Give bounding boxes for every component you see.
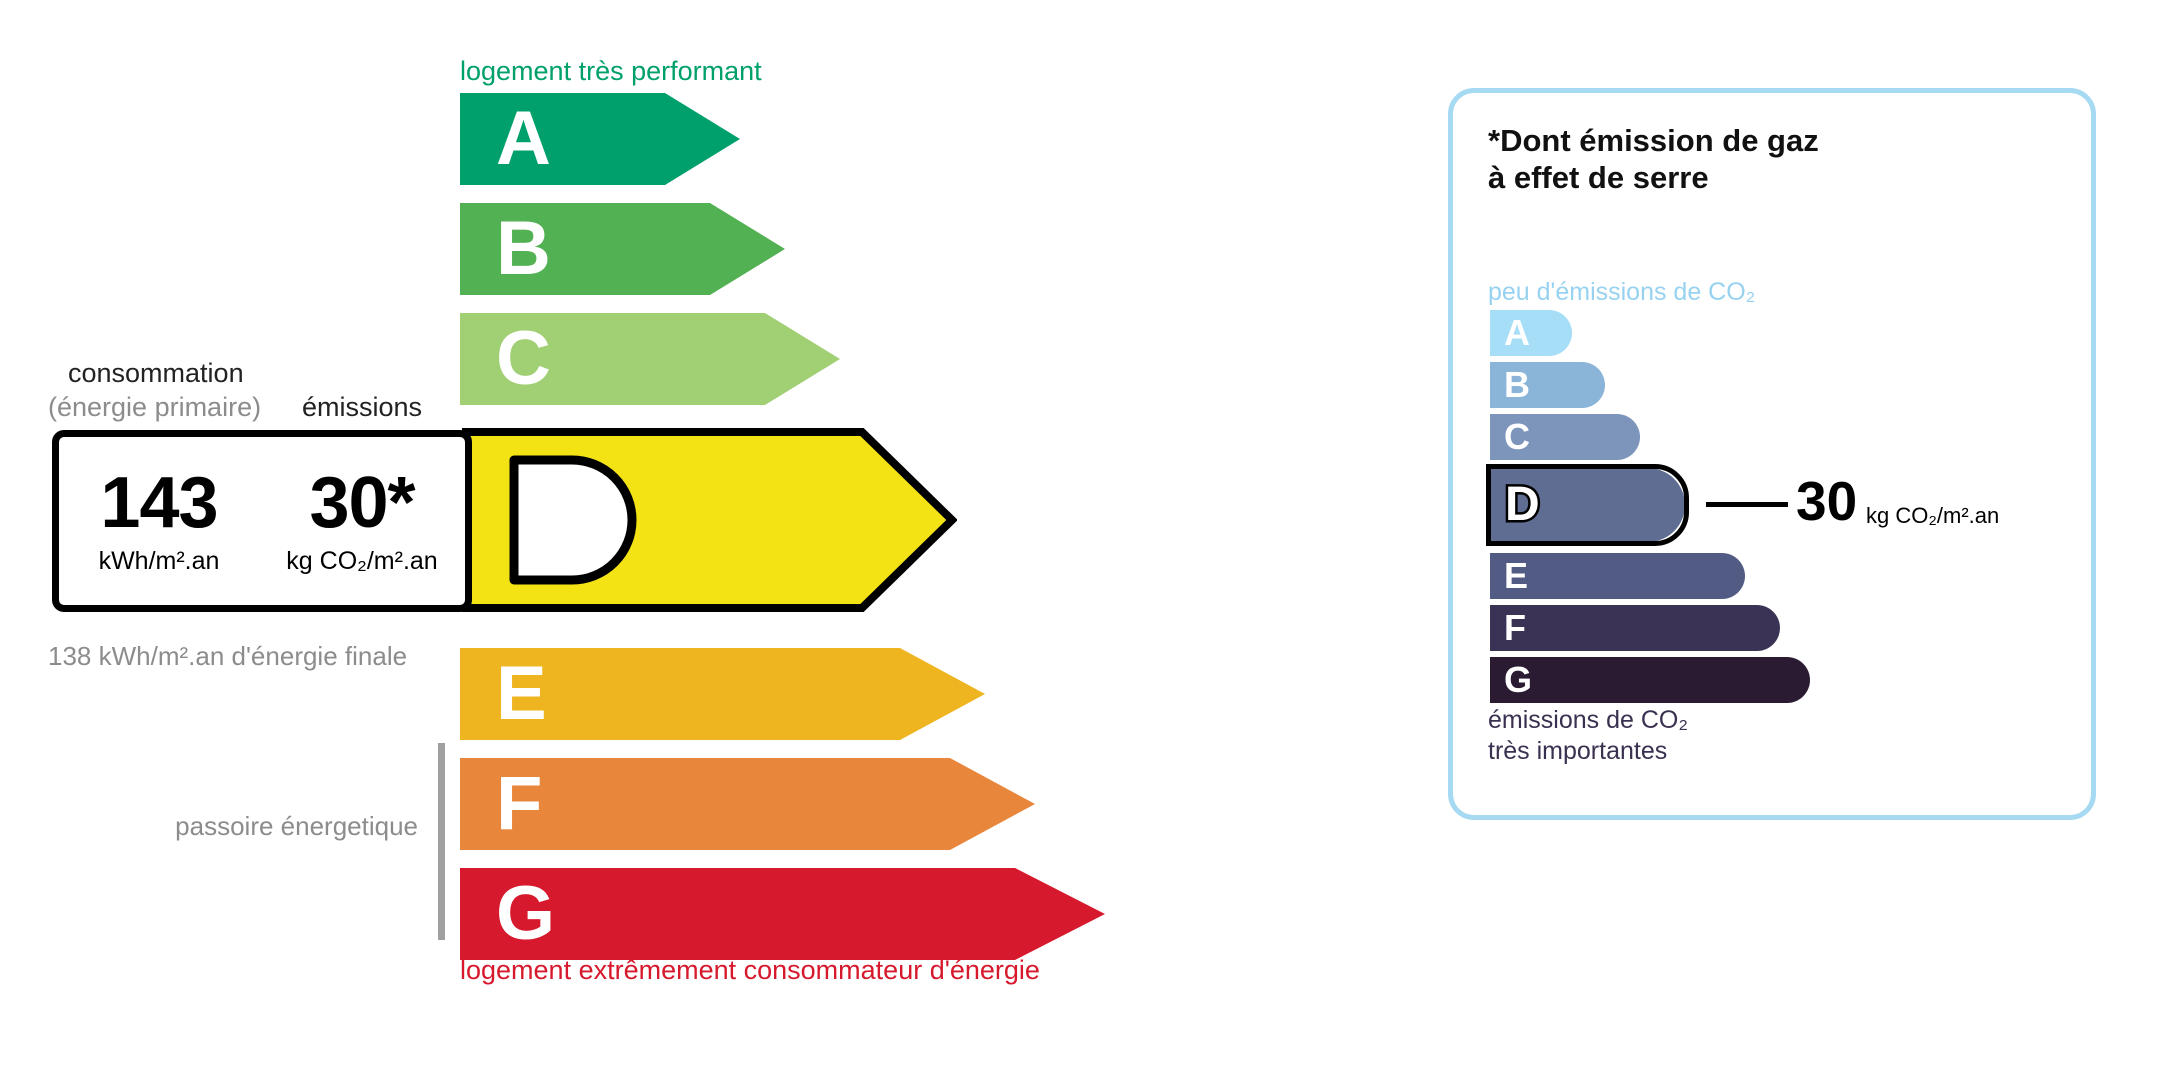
final-energy-label: 138 kWh/m².an d'énergie finale [48,640,407,673]
co2-bar-f-label: F [1504,610,1526,646]
co2-bar-e[interactable]: E [1490,553,1745,599]
energy-band-b[interactable]: B [460,203,785,295]
energy-band-c[interactable]: C [460,313,840,405]
energy-band-f[interactable]: F [460,758,1035,850]
passoire-bracket [438,743,445,940]
primary-energy-cell: 143 kWh/m².an [59,437,259,605]
co2-bar-b[interactable]: B [1490,362,1605,408]
energy-band-b-label: B [496,211,551,287]
energy-band-g-label: G [496,876,555,952]
band-g-shape [460,868,1105,960]
primary-energy-unit: kWh/m².an [99,547,220,576]
emissions-cell: 30* kg CO₂/m².an [259,437,465,605]
emissions-label: émissions [302,392,422,423]
scale-bottom-caption: logement extrêmement consommateur d'éner… [460,955,1040,986]
dpe-diagram: logement très performant A B C E [0,0,2169,1079]
passoire-label: passoire énergetique [160,810,418,843]
co2-unit: kg CO₂/m².an [1866,505,1999,527]
band-d-shape [462,428,957,612]
energy-band-e-label: E [496,656,547,732]
co2-bar-b-label: B [1504,367,1530,403]
co2-bar-d[interactable]: D [1486,464,1689,546]
co2-top-caption: peu d'émissions de CO₂ [1488,278,1755,307]
primary-energy-value: 143 [100,467,217,539]
co2-bar-g[interactable]: G [1490,657,1810,703]
co2-bar-c[interactable]: C [1490,414,1640,460]
energy-band-c-label: C [496,321,551,397]
consommation-label: consommation [68,358,244,389]
scale-top-caption: logement très performant [460,56,762,87]
co2-bar-a-label: A [1504,315,1530,351]
co2-bar-a[interactable]: A [1490,310,1572,356]
co2-bar-e-label: E [1504,558,1528,594]
co2-value: 30 [1796,474,1857,529]
co2-bar-f[interactable]: F [1490,605,1780,651]
energy-band-f-label: F [496,766,542,842]
value-box: 143 kWh/m².an 30* kg CO₂/m².an [52,430,472,612]
co2-bar-c-label: C [1504,419,1530,455]
co2-bar-d-label: D [1505,481,1540,529]
co2-leader-line [1706,502,1788,507]
consommation-sub-label: (énergie primaire) [48,392,261,423]
energy-band-a-label: A [496,101,551,177]
emissions-value: 30* [309,467,414,539]
co2-bottom-caption: émissions de CO₂ très importantes [1488,705,1688,768]
energy-band-e[interactable]: E [460,648,985,740]
co2-bar-g-label: G [1504,662,1532,698]
band-f-shape [460,758,1035,850]
energy-band-a[interactable]: A [460,93,740,185]
energy-band-d[interactable] [462,428,957,612]
energy-band-g[interactable]: G [460,868,1105,960]
co2-panel-title: *Dont émission de gaz à effet de serre [1488,122,1888,196]
emissions-unit: kg CO₂/m².an [286,547,437,576]
